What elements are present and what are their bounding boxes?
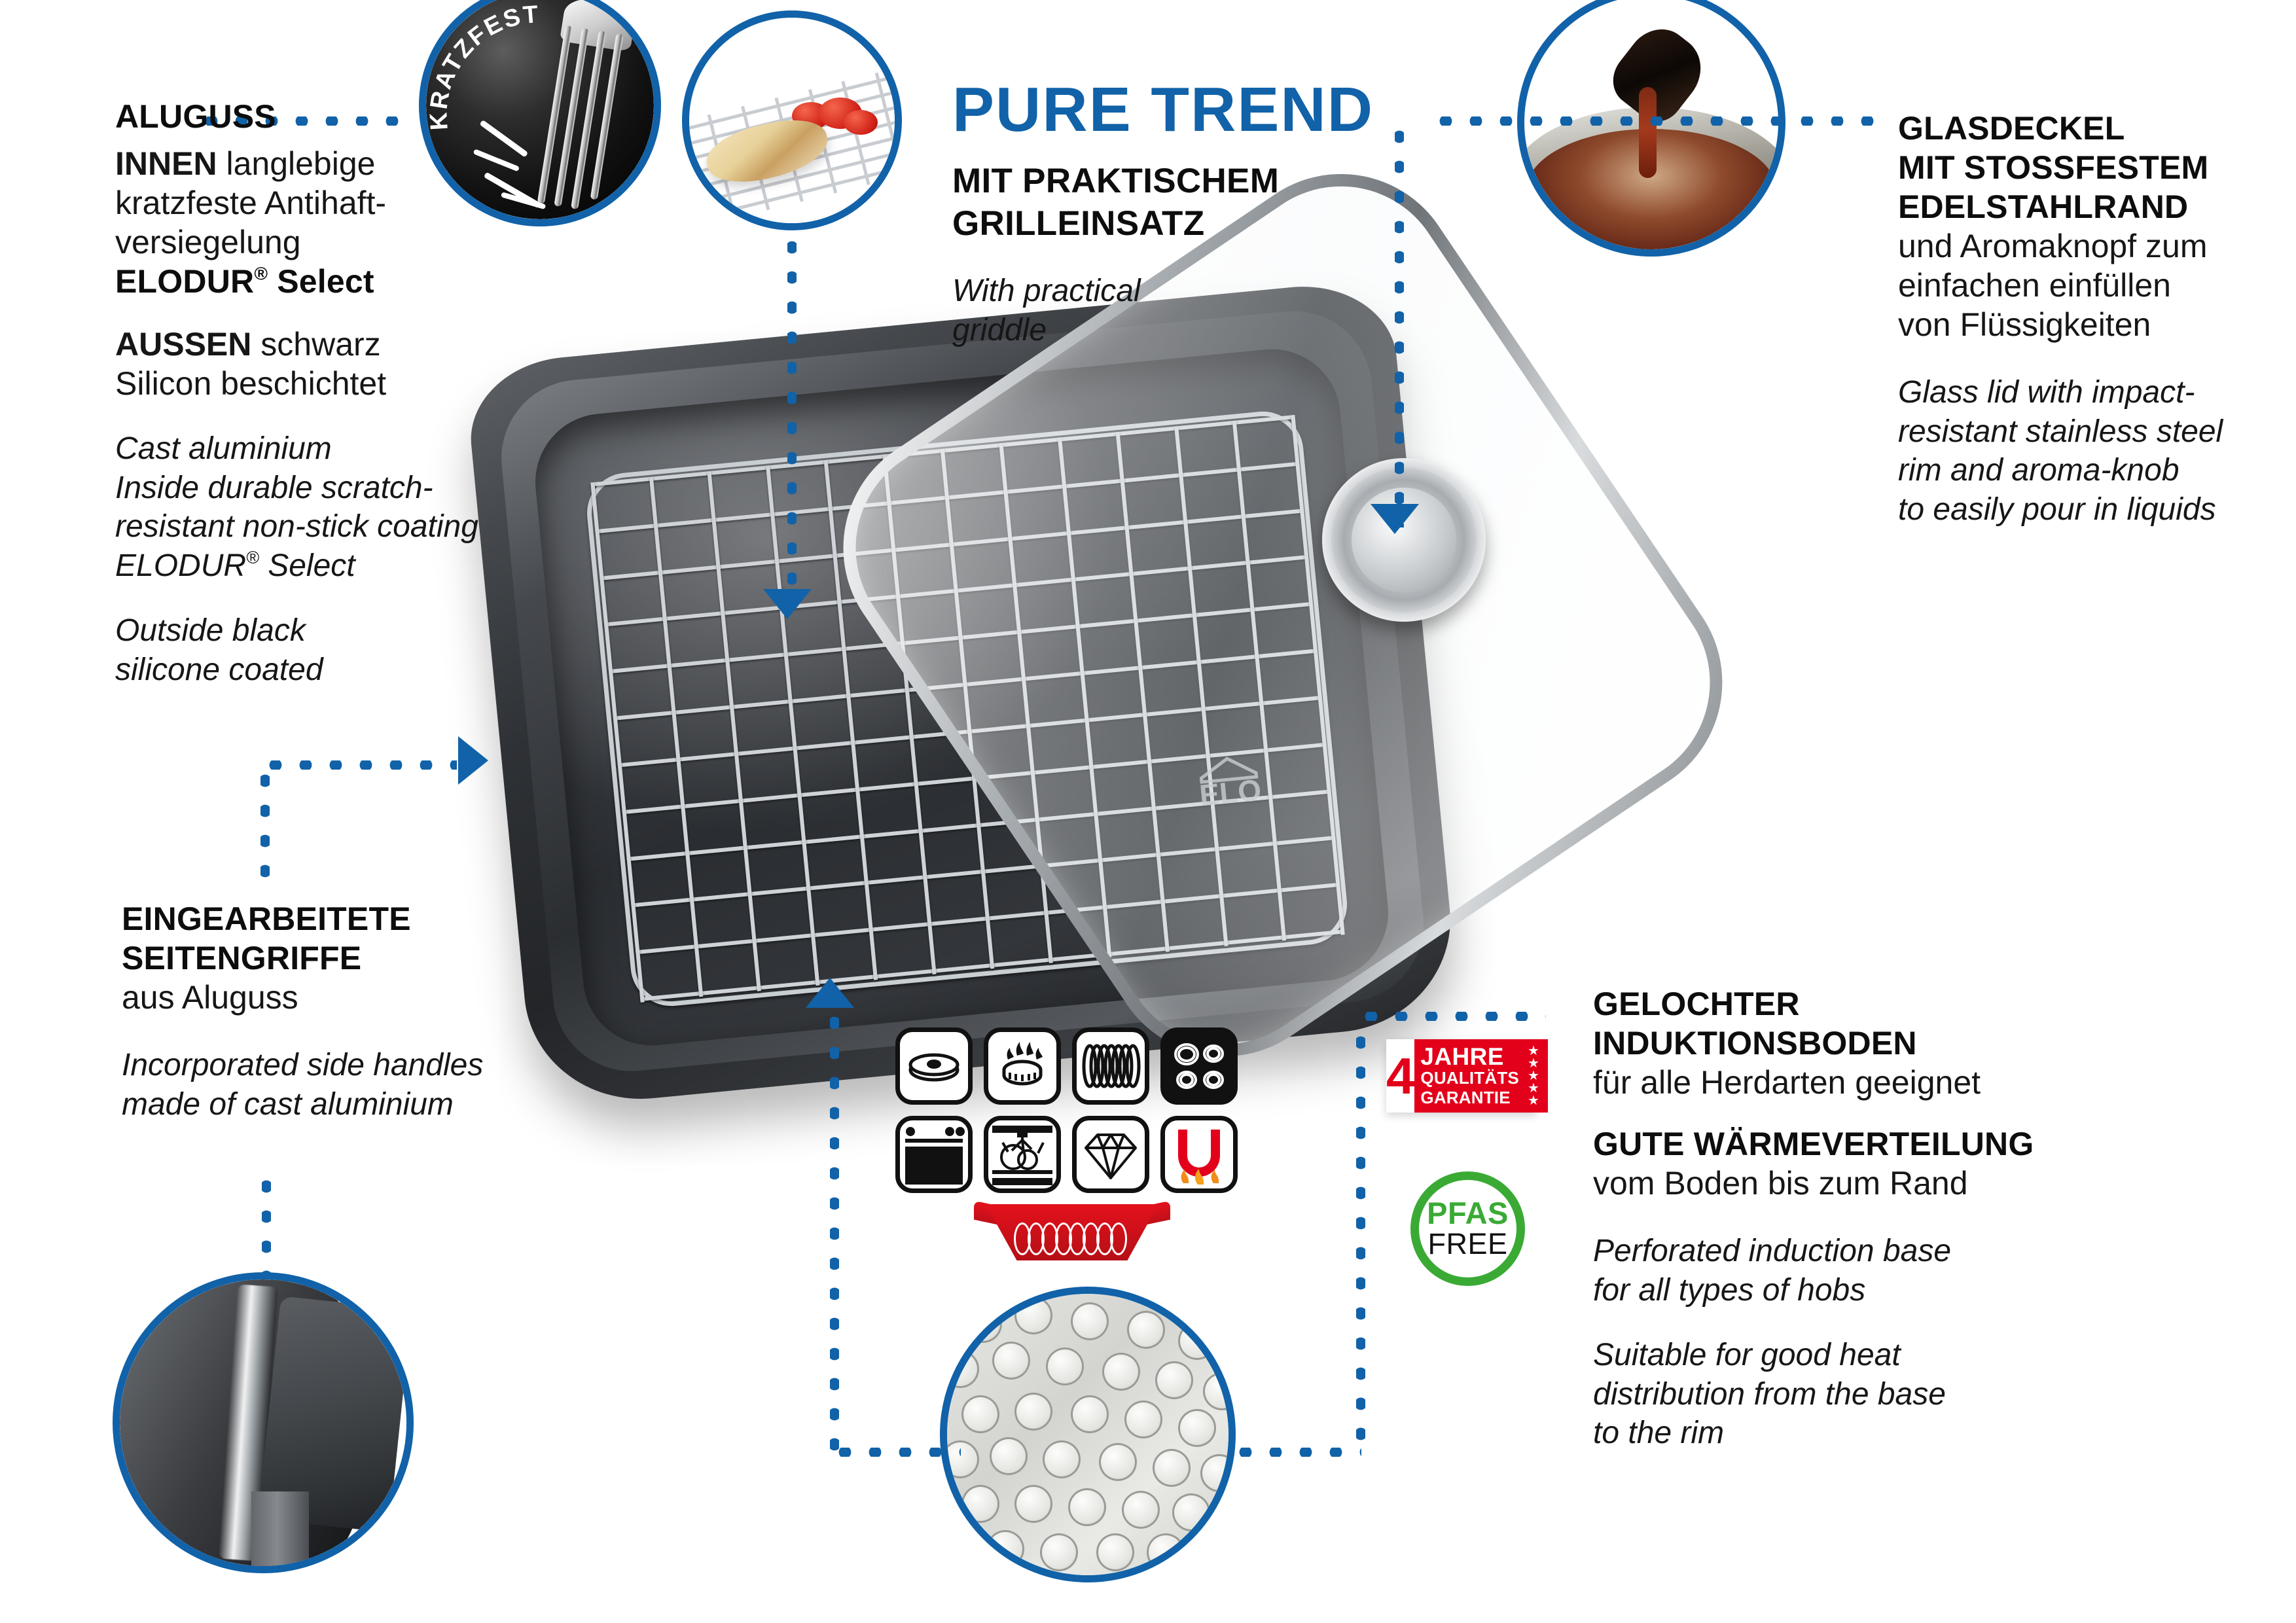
aluguss-de-line-4: ELODUR® Select <box>115 262 534 301</box>
lid-en-line-3: rim and aroma-knob <box>1898 451 2296 490</box>
page-subtitle-english: With practical griddle <box>952 272 1141 349</box>
feature-side-handles: EINGEARBEITETE SEITENGRIFFE aus Aluguss … <box>122 899 554 1124</box>
base-title-2: GUTE WÄRMEVERTEILUNG <box>1593 1124 2064 1164</box>
guarantee-line-2: QUALITÄTS <box>1420 1069 1519 1088</box>
aluguss-en-line-4: ELODUR® Select <box>115 546 534 586</box>
infographic-canvas: ELO KRATZFEST <box>0 0 2296 1623</box>
aroma-knob <box>1322 458 1486 622</box>
guarantee-badge: 4 JAHRE QUALITÄTS GARANTIE ★★★★★ <box>1386 1039 1537 1113</box>
aluguss-de2-line-2: Silicon beschichtet <box>115 364 534 403</box>
aluguss-en2-line-1: Outside black <box>115 611 534 651</box>
pfas-free-badge: PFAS FREE <box>1410 1171 1525 1286</box>
dishwasher-safe-icon <box>984 1116 1061 1193</box>
hob-icon-row-1 <box>895 1027 1249 1105</box>
subtitle-line-1: MIT PRAKTISCHEM <box>952 160 1279 203</box>
pouring-stream <box>1639 87 1657 179</box>
guarantee-years: 4 <box>1386 1039 1414 1113</box>
aluguss-en-line-2: Inside durable scratch- <box>115 469 534 508</box>
induction-coil-pan-icon <box>974 1204 1170 1260</box>
oven-icon <box>895 1116 973 1193</box>
gas-burner-icon <box>984 1027 1061 1105</box>
diamond-icon <box>1072 1116 1149 1193</box>
feature-glass-lid: GLASDECKEL MIT STOSSFESTEM EDELSTAHLRAND… <box>1898 109 2296 529</box>
base-de-sub: für alle Herdarten geeignet <box>1593 1063 2064 1102</box>
handles-title-line-2: SEITENGRIFFE <box>122 938 554 978</box>
leader-coating-down <box>787 232 797 594</box>
feature-induction-base: GELOCHTER INDUKTIONSBODEN für alle Herda… <box>1593 984 2064 1453</box>
base-en2-line-1: Suitable for good heat <box>1593 1336 2064 1375</box>
aluguss-en2-line-2: silicone coated <box>115 651 534 690</box>
page-title: PURE TREND <box>952 79 1374 141</box>
feature-aluguss: ALUGUSS INNEN langlebige kratzfeste Anti… <box>115 97 534 689</box>
leader-lid-to-text <box>1431 116 1876 126</box>
guarantee-line-3: GARANTIE <box>1420 1088 1519 1107</box>
handles-title-line-1: EINGEARBEITETE <box>122 899 554 938</box>
arrow-lid-to-knob <box>1371 504 1419 534</box>
side-handle-bubble <box>113 1272 414 1573</box>
aluguss-title: ALUGUSS <box>115 97 534 136</box>
arrow-base-up <box>806 978 854 1008</box>
leader-base-vertical-left <box>830 1008 839 1453</box>
hob-icon-row-2 <box>895 1116 1249 1193</box>
leader-base-vertical-right <box>1356 1027 1365 1446</box>
base-en2-line-3: to the rim <box>1593 1414 2064 1453</box>
hob-compatibility-icons <box>895 1027 1249 1260</box>
leader-handles-horizontal <box>260 760 457 770</box>
hotplate-icon <box>895 1027 973 1105</box>
ceramic-hob-icon <box>1160 1027 1238 1105</box>
lid-title-line-2: MIT STOSSFESTEM <box>1898 148 2296 187</box>
aluguss-de-line-1: INNEN langlebige <box>115 144 534 183</box>
leader-lid-to-knob <box>1395 122 1404 527</box>
base-en2-line-2: distribution from the base <box>1593 1375 2064 1414</box>
base-title-line-2: INDUKTIONSBODEN <box>1593 1024 2064 1063</box>
lid-en-line-2: resistant stainless steel <box>1898 412 2296 452</box>
lid-en-line-4: to easily pour in liquids <box>1898 490 2296 529</box>
lid-de-line-1: und Aromaknopf zum <box>1898 226 2296 266</box>
subtitle-en-line-2: griddle <box>952 311 1141 350</box>
leader-base-bottom-right <box>1230 1448 1361 1457</box>
electric-coil-icon <box>1072 1027 1149 1105</box>
aluguss-de2-line-1: AUSSEN schwarz <box>115 325 534 364</box>
lid-title-line-3: EDELSTAHLRAND <box>1898 187 2296 226</box>
pfas-line-1: PFAS <box>1427 1198 1509 1228</box>
handles-en-line-1: Incorporated side handles <box>122 1046 554 1085</box>
aluguss-de-line-2: kratzfeste Antihaft- <box>115 183 534 223</box>
base-de-sub-2: vom Boden bis zum Rand <box>1593 1164 2064 1203</box>
page-subtitle: MIT PRAKTISCHEM GRILLEINSATZ <box>952 160 1279 245</box>
base-en1-line-2: for all types of hobs <box>1593 1271 2064 1310</box>
leader-handles-vertical <box>260 766 270 887</box>
coil-glyph <box>1017 1222 1127 1255</box>
handles-de-sub: aus Aluguss <box>122 978 554 1017</box>
subtitle-en-line-1: With practical <box>952 272 1141 311</box>
base-title-line-1: GELOCHTER <box>1593 984 2064 1024</box>
aluguss-de-keyword-innen: INNEN <box>115 145 217 182</box>
pfas-line-2: FREE <box>1427 1228 1507 1259</box>
arrow-handles-right <box>458 736 488 785</box>
leader-base-bottom <box>830 1448 961 1457</box>
handles-en-line-2: made of cast aluminium <box>122 1085 554 1124</box>
aluguss-de-rest-1: langlebige <box>226 145 375 182</box>
subtitle-line-2: GRILLEINSATZ <box>952 203 1279 245</box>
aluguss-de2-rest: schwarz <box>260 326 380 363</box>
leader-handle-bubble <box>262 1171 271 1275</box>
griddle-food-bubble <box>682 10 902 230</box>
guarantee-stars: ★★★★★ <box>1519 1045 1548 1107</box>
lid-de-line-2: einfachen einfüllen <box>1898 266 2296 305</box>
lid-title-line-1: GLASDECKEL <box>1898 109 2296 148</box>
open-flame-icon <box>1160 1116 1238 1193</box>
lid-en-line-1: Glass lid with impact- <box>1898 373 2296 412</box>
handle-stem <box>251 1491 309 1566</box>
guarantee-text: JAHRE QUALITÄTS GARANTIE ★★★★★ <box>1414 1039 1548 1113</box>
aluguss-de-line-3: versiegelung <box>115 223 534 262</box>
aluguss-en-line-3: resistant non-stick coating <box>115 507 534 546</box>
pouring-liquid-bubble <box>1517 0 1785 257</box>
guarantee-line-1: JAHRE <box>1420 1044 1519 1069</box>
leader-base-to-text <box>1356 1012 1546 1021</box>
arrow-coating-down <box>763 589 812 619</box>
base-en1-line-1: Perforated induction base <box>1593 1232 2064 1271</box>
lid-de-line-3: von Flüssigkeiten <box>1898 305 2296 344</box>
perforated-base-bubble <box>940 1287 1236 1582</box>
aluguss-en-line-1: Cast aluminium <box>115 429 534 469</box>
aluguss-de-keyword-aussen: AUSSEN <box>115 326 251 363</box>
